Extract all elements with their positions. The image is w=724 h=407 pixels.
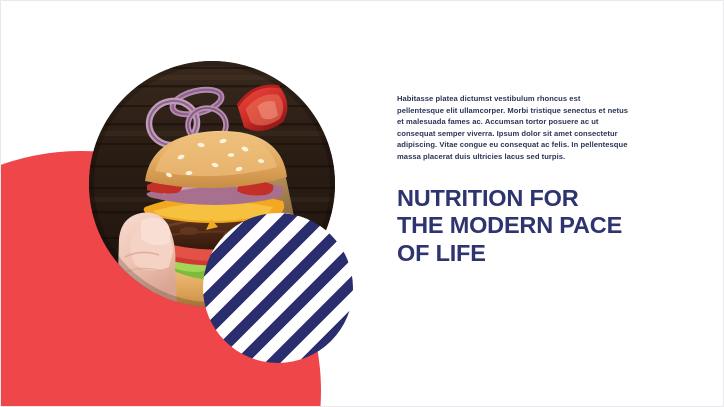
body-paragraph: Habitasse platea dictumst vestibulum rho… bbox=[397, 93, 629, 163]
navy-striped-circle-decoration bbox=[203, 213, 353, 363]
slide-canvas: Habitasse platea dictumst vestibulum rho… bbox=[0, 0, 724, 407]
headline-line-3: OF LIFE bbox=[397, 240, 629, 268]
headline-line-2: THE MODERN PACE bbox=[397, 212, 629, 240]
diagonal-stripes bbox=[203, 213, 353, 363]
text-column: Habitasse platea dictumst vestibulum rho… bbox=[397, 93, 629, 267]
headline-line-1: NUTRITION FOR bbox=[397, 185, 629, 213]
page-title: NUTRITION FOR THE MODERN PACE OF LIFE bbox=[397, 163, 629, 268]
